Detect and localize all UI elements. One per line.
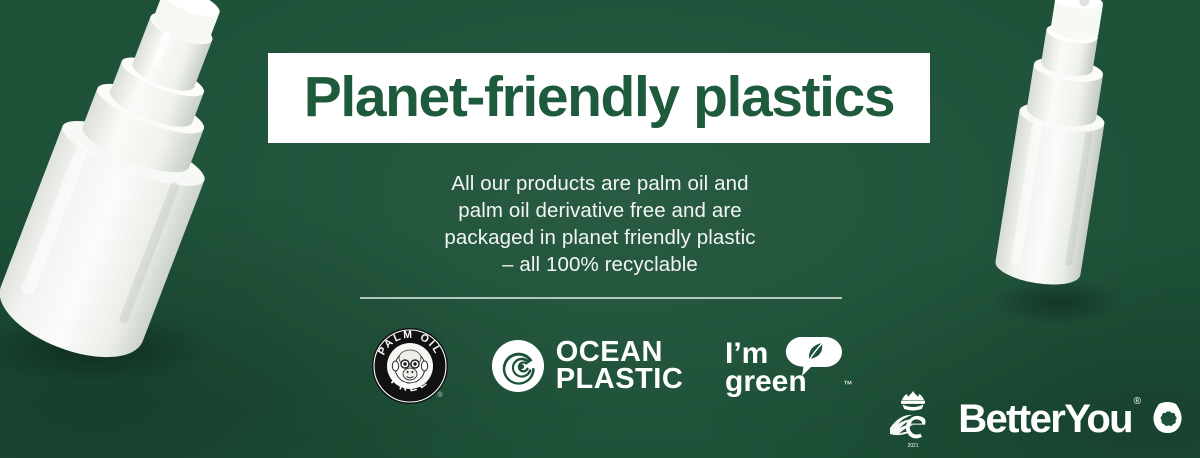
- betteryou-logo[interactable]: 2021 BetterYou ®: [886, 388, 1184, 450]
- divider-rule: [360, 297, 842, 299]
- badge-palm-oil-free: PALM OIL FREE ®: [371, 327, 449, 405]
- body-copy-line-1: All our products are palm oil and: [0, 170, 1200, 197]
- svg-text:®: ®: [437, 391, 443, 399]
- badge-im-green: I’m green ™: [725, 335, 843, 397]
- betteryou-registered: ®: [1134, 397, 1141, 407]
- body-copy-line-3: packaged in planet friendly plastic: [0, 224, 1200, 251]
- betteryou-wordmark: BetterYou ®: [958, 399, 1132, 439]
- body-copy-line-2: palm oil derivative free and are: [0, 197, 1200, 224]
- ocean-plastic-line-1: OCEAN: [556, 339, 684, 366]
- planet-friendly-plastics-banner: Planet-friendly plastics All our product…: [0, 0, 1200, 458]
- body-copy: All our products are palm oil and palm o…: [0, 170, 1200, 278]
- badge-ocean-plastic: OCEAN PLASTIC: [491, 339, 684, 393]
- im-green-line-2: green: [725, 365, 807, 397]
- im-green-trademark: ™: [843, 380, 852, 389]
- leaf-droplet-icon: [1150, 400, 1184, 438]
- ocean-plastic-spiral-icon: [491, 339, 545, 393]
- betteryou-name: BetterYou: [958, 397, 1132, 441]
- page-title: Planet-friendly plastics: [304, 69, 894, 126]
- queens-award-year: 2021: [908, 443, 919, 449]
- palm-oil-free-icon: PALM OIL FREE ®: [371, 327, 449, 405]
- headline-box: Planet-friendly plastics: [268, 53, 930, 143]
- ocean-plastic-line-2: PLASTIC: [556, 366, 684, 393]
- body-copy-line-4: – all 100% recyclable: [0, 251, 1200, 278]
- queens-award-emblem-icon: 2021: [886, 388, 940, 450]
